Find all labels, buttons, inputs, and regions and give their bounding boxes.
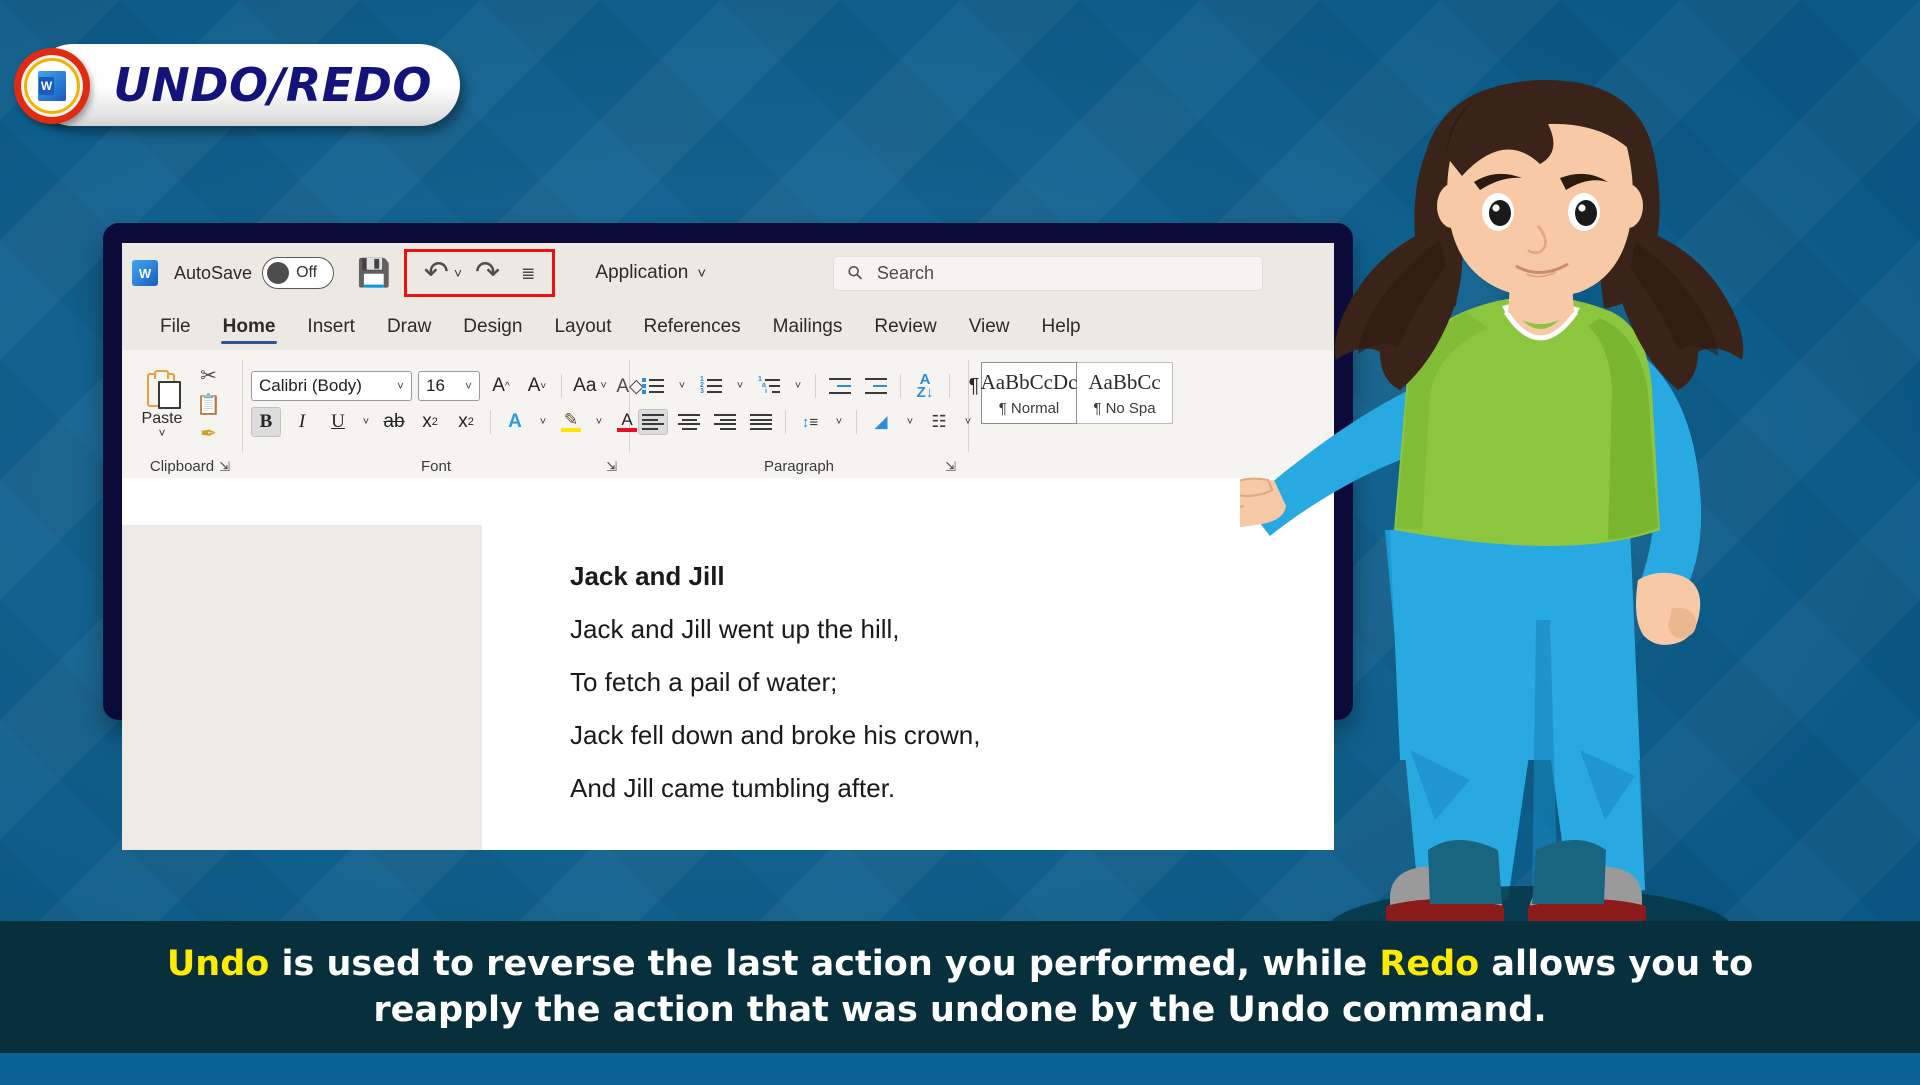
align-left-icon[interactable] bbox=[638, 409, 668, 435]
paste-button[interactable]: Paste ˅ bbox=[130, 370, 194, 438]
tab-help[interactable]: Help bbox=[1026, 303, 1097, 350]
change-case-label: Aa bbox=[573, 375, 596, 397]
ribbon-tab-bar: File Home Insert Draw Design Layout Refe… bbox=[122, 303, 1334, 350]
caption-line-1: Undo is used to reverse the last action … bbox=[167, 941, 1753, 987]
search-input[interactable]: ⚲ Search bbox=[833, 256, 1263, 291]
clipboard-group-label: Clipboard bbox=[150, 458, 214, 475]
font-row-bottom: B I U ˅ ab x2 x2 A ˅ bbox=[251, 404, 662, 440]
caption-line1-mid: is used to reverse the last action you p… bbox=[269, 944, 1379, 984]
document-heading: Jack and Jill bbox=[570, 561, 1334, 592]
document-page[interactable]: Jack and Jill Jack and Jill went up the … bbox=[482, 525, 1334, 850]
chevron-down-icon: ˅ bbox=[600, 380, 606, 392]
borders-icon[interactable]: ☷ bbox=[924, 409, 954, 435]
format-painter-icon[interactable]: ✒ bbox=[200, 421, 217, 445]
subscript-button[interactable]: x2 bbox=[415, 407, 445, 437]
tab-view[interactable]: View bbox=[953, 303, 1026, 350]
ribbon-group-paragraph: ˅ 123 ˅ 1ai ˅ bbox=[630, 354, 968, 478]
word-application-window: W AutoSave Off 💾 ↶ ˅ ↷ ≣ Application ˅ ⚲… bbox=[122, 243, 1334, 850]
style-no-spacing[interactable]: AaBbCc ¶ No Spa bbox=[1077, 362, 1173, 424]
align-right-icon[interactable] bbox=[710, 409, 740, 435]
font-dialog-launcher-icon[interactable]: ⇲ bbox=[606, 459, 617, 475]
tab-design[interactable]: Design bbox=[447, 303, 538, 350]
tab-draw[interactable]: Draw bbox=[371, 303, 447, 350]
word-icon: W bbox=[14, 48, 90, 124]
word-logo-letter: W bbox=[39, 77, 54, 95]
style-label: ¶ Normal bbox=[999, 400, 1060, 417]
tab-review[interactable]: Review bbox=[858, 303, 952, 350]
tab-layout[interactable]: Layout bbox=[538, 303, 627, 350]
word-app-icon: W bbox=[132, 260, 158, 286]
chevron-down-icon: ˅ bbox=[397, 379, 404, 393]
paragraph-row-bottom: ↕≡ ˅ ◢ ˅ ☷ ˅ bbox=[638, 404, 989, 440]
document-line: Jack and Jill went up the hill, bbox=[570, 614, 1334, 645]
superscript-button[interactable]: x2 bbox=[451, 407, 481, 437]
ribbon-group-styles: AaBbCcDc ¶ Normal AaBbCc ¶ No Spa bbox=[969, 354, 1199, 478]
style-sample: AaBbCc bbox=[1088, 370, 1160, 395]
numbering-chevron-down-icon[interactable]: ˅ bbox=[732, 373, 748, 399]
tab-insert[interactable]: Insert bbox=[291, 303, 371, 350]
customize-quick-access-icon[interactable]: ≣ bbox=[521, 265, 535, 282]
caption-highlight-undo: Undo bbox=[167, 944, 269, 984]
clipboard-dialog-launcher-icon[interactable]: ⇲ bbox=[219, 459, 230, 475]
italic-label: I bbox=[299, 411, 305, 433]
chevron-down-icon: ˅ bbox=[465, 379, 472, 393]
font-row-top: Calibri (Body) ˅ 16 ˅ A^ A˅ Aa ˅ A◇ bbox=[251, 368, 662, 404]
word-icon-ring-gold: W bbox=[24, 58, 80, 114]
bold-label: B bbox=[260, 411, 273, 433]
strikethrough-button[interactable]: ab bbox=[379, 407, 409, 437]
document-canvas: Jack and Jill Jack and Jill went up the … bbox=[122, 525, 1334, 850]
caption-line-2: reapply the action that was undone by th… bbox=[373, 987, 1546, 1033]
paragraph-row-top: ˅ 123 ˅ 1ai ˅ bbox=[638, 368, 989, 404]
document-left-margin bbox=[122, 525, 482, 850]
undo-arrow-icon[interactable]: ↶ bbox=[424, 258, 449, 288]
word-logo-square: W bbox=[38, 71, 66, 101]
chevron-down-icon: ˅ bbox=[697, 265, 706, 282]
strikethrough-label: ab bbox=[383, 411, 404, 433]
line-spacing-icon[interactable]: ↕≡ bbox=[795, 409, 825, 435]
bottom-strip bbox=[0, 1053, 1920, 1080]
font-group-label: Font bbox=[421, 458, 451, 475]
bullets-chevron-down-icon[interactable]: ˅ bbox=[674, 373, 690, 399]
multilevel-list-icon[interactable]: 1ai bbox=[754, 373, 784, 399]
style-normal[interactable]: AaBbCcDc ¶ Normal bbox=[981, 362, 1077, 424]
font-name-input[interactable]: Calibri (Body) ˅ bbox=[251, 371, 412, 401]
highlight-chevron-down-icon[interactable]: ˅ bbox=[592, 407, 606, 437]
align-center-icon[interactable] bbox=[674, 409, 704, 435]
document-line: And Jill came tumbling after. bbox=[570, 773, 1334, 804]
caption-line1-post: allows you to bbox=[1479, 944, 1753, 984]
save-icon[interactable]: 💾 bbox=[357, 260, 391, 287]
search-placeholder: Search bbox=[877, 263, 934, 284]
application-menu[interactable]: Application ˅ bbox=[595, 262, 706, 284]
copy-icon[interactable]: 📋 bbox=[196, 392, 221, 416]
word-app-icon-letter: W bbox=[139, 266, 151, 281]
tab-mailings[interactable]: Mailings bbox=[757, 303, 859, 350]
shrink-font-icon[interactable]: A˅ bbox=[522, 371, 552, 401]
autosave-label: AutoSave bbox=[174, 263, 252, 284]
shading-chevron-down-icon[interactable]: ˅ bbox=[902, 409, 918, 435]
ribbon-group-font: Calibri (Body) ˅ 16 ˅ A^ A˅ Aa ˅ A◇ bbox=[243, 354, 629, 478]
text-effects-chevron-down-icon[interactable]: ˅ bbox=[536, 407, 550, 437]
line-spacing-chevron-down-icon[interactable]: ˅ bbox=[831, 409, 847, 435]
numbered-list-icon[interactable]: 123 bbox=[696, 373, 726, 399]
ribbon-content: Paste ˅ ✂ 📋 ✒ Clipboard ⇲ Calibri ( bbox=[122, 350, 1334, 478]
multilevel-chevron-down-icon[interactable]: ˅ bbox=[790, 373, 806, 399]
autosave-state-label: Off bbox=[296, 264, 317, 282]
tab-references[interactable]: References bbox=[628, 303, 757, 350]
tab-file[interactable]: File bbox=[144, 303, 207, 350]
scissors-icon[interactable]: ✂ bbox=[200, 363, 217, 387]
ribbon-group-clipboard: Paste ˅ ✂ 📋 ✒ Clipboard ⇲ bbox=[122, 354, 242, 478]
shading-icon[interactable]: ◢ bbox=[866, 409, 896, 435]
underline-label: U bbox=[331, 411, 345, 433]
undo-redo-highlight-box: ↶ ˅ ↷ ≣ bbox=[404, 249, 556, 297]
subscript-label: x bbox=[422, 411, 432, 433]
grow-font-icon[interactable]: A^ bbox=[486, 371, 516, 401]
document-line: Jack fell down and broke his crown, bbox=[570, 720, 1334, 751]
paste-icon bbox=[145, 370, 179, 408]
caption-highlight-redo: Redo bbox=[1379, 944, 1479, 984]
underline-chevron-down-icon[interactable]: ˅ bbox=[359, 407, 373, 437]
application-menu-label: Application bbox=[595, 262, 688, 284]
autosave-toggle[interactable]: Off bbox=[262, 257, 334, 289]
word-icon-ring-outer: W bbox=[21, 55, 83, 117]
italic-button[interactable]: I bbox=[287, 407, 317, 437]
underline-button[interactable]: U bbox=[323, 407, 353, 437]
style-label: ¶ No Spa bbox=[1093, 400, 1155, 417]
font-size-value: 16 bbox=[426, 376, 445, 396]
text-effects-label: A bbox=[508, 411, 522, 433]
increase-indent-icon[interactable] bbox=[861, 373, 891, 399]
font-size-input[interactable]: 16 ˅ bbox=[418, 371, 480, 401]
style-sample: AaBbCcDc bbox=[981, 370, 1078, 395]
undo-dropdown-chevron-down-icon[interactable]: ˅ bbox=[454, 265, 462, 281]
superscript-label: x bbox=[458, 411, 468, 433]
quick-access-toolbar: W AutoSave Off 💾 ↶ ˅ ↷ ≣ Application ˅ ⚲… bbox=[122, 243, 1334, 303]
caption: Undo is used to reverse the last action … bbox=[0, 921, 1920, 1053]
paste-chevron-down-icon[interactable]: ˅ bbox=[158, 428, 165, 438]
page-title: UNDO/REDO bbox=[113, 58, 432, 112]
change-case-button[interactable]: Aa ˅ bbox=[571, 371, 609, 401]
title-badge: UNDO/REDO W bbox=[14, 44, 460, 126]
font-name-value: Calibri (Body) bbox=[259, 376, 362, 396]
paragraph-group-label: Paragraph bbox=[764, 458, 834, 475]
sort-az-icon[interactable]: AZ↓ bbox=[910, 373, 940, 399]
redo-arrow-icon[interactable]: ↷ bbox=[475, 258, 500, 288]
autosave-toggle-knob bbox=[267, 262, 289, 284]
title-badge-pill: UNDO/REDO bbox=[32, 44, 460, 126]
bold-button[interactable]: B bbox=[251, 407, 281, 437]
document-line: To fetch a pail of water; bbox=[570, 667, 1334, 698]
tab-home[interactable]: Home bbox=[207, 303, 292, 350]
search-icon: ⚲ bbox=[843, 260, 869, 286]
paragraph-dialog-launcher-icon[interactable]: ⇲ bbox=[945, 459, 956, 475]
justify-icon[interactable] bbox=[746, 409, 776, 435]
text-highlight-icon[interactable]: ✎ bbox=[556, 407, 586, 437]
text-effects-button[interactable]: A bbox=[500, 407, 530, 437]
decrease-indent-icon[interactable] bbox=[825, 373, 855, 399]
bullet-list-icon[interactable] bbox=[638, 373, 668, 399]
